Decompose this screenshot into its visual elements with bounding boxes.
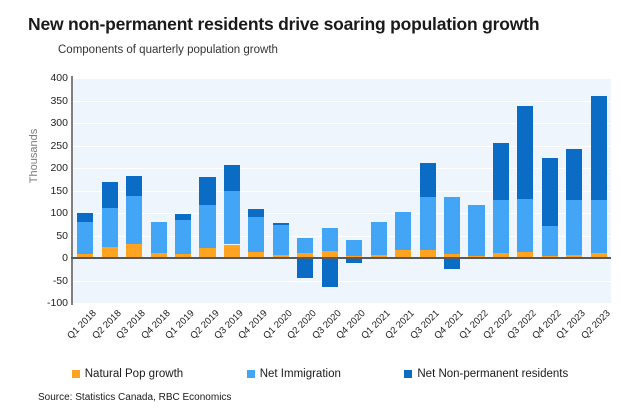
legend-item[interactable]: Net Immigration [247, 368, 341, 380]
legend-label: Natural Pop growth [85, 368, 183, 380]
legend-item[interactable]: Natural Pop growth [72, 368, 183, 380]
x-axis-ticks: Q1 2018Q2 2018Q3 2018Q4 2018Q1 2019Q2 20… [0, 0, 624, 412]
chart-figure: New non-permanent residents drive soarin… [0, 0, 624, 412]
source-note: Source: Statistics Canada, RBC Economics [38, 392, 231, 403]
legend-item[interactable]: Net Non-permanent residents [404, 368, 568, 380]
chart-legend: Natural Pop growthNet ImmigrationNet Non… [40, 368, 600, 380]
legend-label: Net Non-permanent residents [417, 368, 568, 380]
legend-swatch-immigration [247, 370, 255, 378]
legend-swatch-natural [72, 370, 80, 378]
legend-label: Net Immigration [260, 368, 341, 380]
legend-swatch-npr [404, 370, 412, 378]
